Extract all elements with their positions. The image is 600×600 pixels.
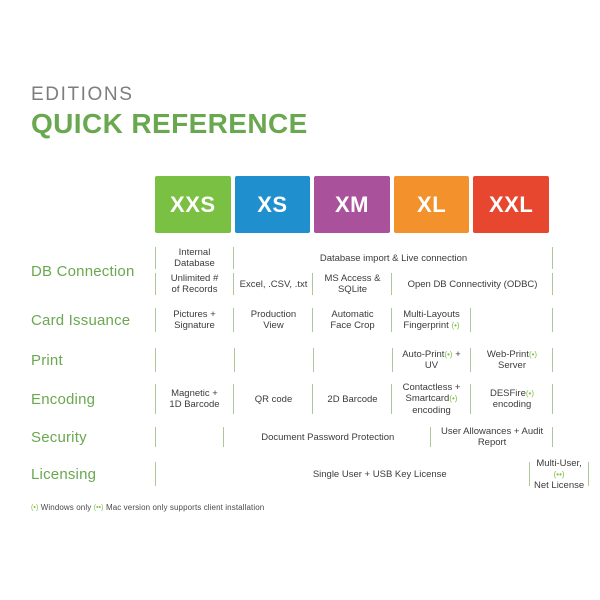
edition-label-xs: XS xyxy=(257,192,287,218)
cell-en-qr-code: QR code xyxy=(234,382,313,416)
cell-ci-multi-layouts-fingerprint: Multi-Layouts Fingerprint (•) xyxy=(392,306,471,334)
cell-text-line3: encoding xyxy=(412,405,451,416)
cell-ci-xxl-empty xyxy=(471,306,553,334)
cell-text-line1: Multi-User, xyxy=(536,458,581,469)
cell-db-import-live: Database import & Live connection xyxy=(234,245,553,271)
cell-ci-automatic-face-crop: Automatic Face Crop xyxy=(313,306,392,334)
windows-only-mark-icon: (•) xyxy=(529,350,537,359)
cell-db-excel-csv-txt: Excel, .CSV, .txt xyxy=(234,271,313,297)
row-label-print: Print xyxy=(31,341,155,379)
cell-ci-pictures-signature: Pictures + Signature xyxy=(155,306,234,334)
cell-db-internal-database: Internal Database xyxy=(155,245,234,271)
feature-table: DB Connection Internal Database Database… xyxy=(31,243,553,493)
cell-text-line2: Signature xyxy=(174,320,215,331)
cell-db-ms-access-sqlite: MS Access & SQLite xyxy=(313,271,392,297)
cell-print-xxs-empty xyxy=(155,346,234,374)
windows-only-mark-icon: (•) xyxy=(444,350,452,359)
footnote-mac-text: Mac version only supports client install… xyxy=(106,503,264,512)
edition-box-xxs[interactable]: XXS xyxy=(155,176,231,233)
cell-text-line1: Web-Print xyxy=(487,349,529,360)
cell-text: Document Password Protection xyxy=(261,432,394,443)
cell-li-xxs-empty xyxy=(155,460,230,488)
cell-se-user-allowances-audit-report: User Allowances + Audit Report xyxy=(431,425,553,449)
table-row-licensing: Licensing Single User + USB Key License … xyxy=(31,455,553,493)
cell-text-line2: UV xyxy=(425,360,438,371)
table-row-security: Security Document Password Protection Us… xyxy=(31,419,553,455)
cell-text-line2: Net License xyxy=(534,480,584,491)
cell-print-auto-print-uv: Auto-Print(•) + UV xyxy=(392,346,471,374)
cell-text-line2: SQLite xyxy=(338,284,367,295)
cell-text-line1: Automatic xyxy=(331,309,373,320)
subrow-licensing-1: Single User + USB Key License Multi-User… xyxy=(155,460,589,488)
subrow-print-1: Auto-Print(•) + UV Web-Print(•) Server xyxy=(155,346,553,374)
subrow-db-1: Internal Database Database import & Live… xyxy=(155,245,553,271)
cell-text: QR code xyxy=(255,394,293,405)
cell-print-xs-empty xyxy=(234,346,313,374)
edition-label-xm: XM xyxy=(335,192,369,218)
edition-label-xxl: XXL xyxy=(489,192,533,218)
cell-text-line2: 1D Barcode xyxy=(169,399,219,410)
cell-text-line1: Magnetic + xyxy=(171,388,218,399)
cell-text-line1: Production xyxy=(251,309,296,320)
table-row-print: Print Auto-Print(•) + UV Web-Print(•) xyxy=(31,341,553,379)
cell-text-line1: Contactless + xyxy=(403,382,461,393)
edition-box-xm[interactable]: XM xyxy=(314,176,390,233)
cell-text-line1: Unlimited # xyxy=(171,273,219,284)
row-body-card-issuance: Pictures + Signature Production View Aut… xyxy=(155,299,553,341)
row-body-encoding: Magnetic + 1D Barcode QR code 2D Barcode… xyxy=(155,379,553,419)
row-label-db-connection: DB Connection xyxy=(31,243,155,299)
mac-client-mark-icon: (••) xyxy=(554,470,565,479)
row-label-licensing: Licensing xyxy=(31,455,155,493)
cell-ci-production-view: Production View xyxy=(234,306,313,334)
cell-text-line1: Multi-Layouts xyxy=(403,309,460,320)
edition-header-row: XXS XS XM XL XXL xyxy=(155,176,549,233)
cell-text-line2: View xyxy=(263,320,283,331)
footnote: (•) Windows only (••) Mac version only s… xyxy=(31,503,264,512)
cell-en-contactless-smartcard: Contactless + Smartcard(•) encoding xyxy=(392,382,471,416)
row-body-security: Document Password Protection User Allowa… xyxy=(155,419,553,455)
cell-text-line1: Auto-Print xyxy=(402,349,444,360)
cell-text-line2: Fingerprint xyxy=(403,320,448,331)
cell-text: Open DB Connectivity (ODBC) xyxy=(408,279,538,290)
edition-box-xl[interactable]: XL xyxy=(394,176,470,233)
footnote-windows-text: Windows only xyxy=(41,503,92,512)
windows-only-mark-icon: (•) xyxy=(451,321,459,330)
cell-text-line2: of Records xyxy=(172,284,218,295)
cell-text: Single User + USB Key License xyxy=(313,469,447,480)
page-title: EDITIONS QUICK REFERENCE xyxy=(31,84,308,140)
cell-en-magnetic-1d-barcode: Magnetic + 1D Barcode xyxy=(155,382,234,416)
title-main: QUICK REFERENCE xyxy=(31,108,308,140)
cell-text-line1: MS Access & xyxy=(325,273,381,284)
edition-box-xs[interactable]: XS xyxy=(235,176,311,233)
row-label-card-issuance: Card Issuance xyxy=(31,299,155,341)
cell-text-line1: Pictures + xyxy=(173,309,216,320)
cell-li-single-user-usb-key: Single User + USB Key License xyxy=(230,460,529,488)
cell-text: User Allowances + Audit Report xyxy=(434,426,550,448)
row-label-security: Security xyxy=(31,419,155,455)
cell-text: Database import & Live connection xyxy=(320,253,467,264)
subrow-card-issuance-1: Pictures + Signature Production View Aut… xyxy=(155,306,553,334)
table-row-db-connection: DB Connection Internal Database Database… xyxy=(31,243,553,299)
cell-li-multi-user-net-license: Multi-User,(••) Net License xyxy=(529,460,588,488)
table-row-encoding: Encoding Magnetic + 1D Barcode QR code 2… xyxy=(31,379,553,419)
footnote-double-mark-icon: (••) xyxy=(94,504,104,511)
edition-label-xl: XL xyxy=(417,192,446,218)
table-row-card-issuance: Card Issuance Pictures + Signature Produ… xyxy=(31,299,553,341)
quick-reference-page: EDITIONS QUICK REFERENCE XXS XS XM XL XX… xyxy=(0,0,600,600)
cell-db-unlimited-records: Unlimited # of Records xyxy=(155,271,234,297)
cell-text: 2D Barcode xyxy=(327,394,377,405)
footnote-single-mark-icon: (•) xyxy=(31,504,38,511)
row-body-db-connection: Internal Database Database import & Live… xyxy=(155,243,553,299)
subrow-security-1: Document Password Protection User Allowa… xyxy=(155,425,553,449)
cell-text: Excel, .CSV, .txt xyxy=(240,279,308,290)
cell-print-web-print-server: Web-Print(•) Server xyxy=(471,346,553,374)
cell-text-line2: encoding xyxy=(493,399,532,410)
cell-text-line2: Smartcard xyxy=(406,394,450,405)
subrow-encoding-1: Magnetic + 1D Barcode QR code 2D Barcode… xyxy=(155,382,553,416)
cell-db-odbc: Open DB Connectivity (ODBC) xyxy=(392,271,553,297)
cell-text-line2: Server xyxy=(498,360,526,371)
cell-text-line1: DESFire xyxy=(490,388,526,399)
row-label-encoding: Encoding xyxy=(31,379,155,419)
cell-print-xm-empty xyxy=(313,346,392,374)
edition-label-xxs: XXS xyxy=(170,192,216,218)
title-eyebrow: EDITIONS xyxy=(31,84,308,106)
cell-se-document-password-protection: Document Password Protection xyxy=(224,425,431,449)
cell-en-2d-barcode: 2D Barcode xyxy=(313,382,392,416)
cell-text-plus: + xyxy=(455,349,461,360)
cell-se-xxs-empty xyxy=(155,425,224,449)
row-body-licensing: Single User + USB Key License Multi-User… xyxy=(155,455,589,493)
cell-text-line1: Internal xyxy=(179,247,211,258)
row-body-print: Auto-Print(•) + UV Web-Print(•) Server xyxy=(155,341,553,379)
subrow-db-2: Unlimited # of Records Excel, .CSV, .txt… xyxy=(155,271,553,297)
cell-text-line2: Database xyxy=(174,258,215,269)
edition-box-xxl[interactable]: XXL xyxy=(473,176,549,233)
windows-only-mark-icon: (•) xyxy=(449,394,457,403)
cell-en-desfire-encoding: DESFire(•) encoding xyxy=(471,382,553,416)
cell-text-line2: Face Crop xyxy=(330,320,374,331)
windows-only-mark-icon: (•) xyxy=(526,389,534,398)
